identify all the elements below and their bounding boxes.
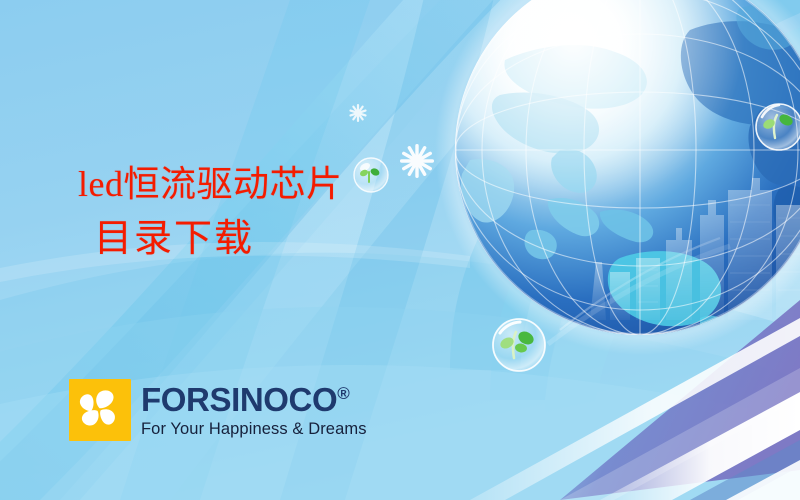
logo-company-name: FORSINOCO®: [141, 383, 367, 416]
logo-name-text: FORSINOCO: [141, 381, 337, 418]
promotional-banner-slide: led恒流驱动芯片 目录下载 FORSINOCO® For Your Happi…: [0, 0, 800, 500]
sparkle-small: [349, 104, 367, 122]
city-skyline-silhouette: [548, 178, 800, 344]
pinwheel-flower-icon: [69, 379, 131, 441]
company-logo[interactable]: FORSINOCO® For Your Happiness & Dreams: [69, 379, 367, 441]
headline-line-2: 目录下载: [94, 217, 498, 262]
headline-text: led恒流驱动芯片 目录下载: [78, 163, 498, 262]
logo-wordmark: FORSINOCO® For Your Happiness & Dreams: [141, 379, 367, 438]
globe-continents: [461, 5, 800, 342]
bubble-right-edge: [756, 104, 800, 150]
headline-line-1: led恒流驱动芯片: [78, 163, 498, 205]
globe-grid-lines: [455, 0, 800, 335]
logo-tagline: For Your Happiness & Dreams: [141, 421, 367, 438]
bubble-large-bottom: [493, 319, 545, 371]
lower-wave-bands: [0, 242, 800, 500]
corner-accent: [470, 300, 800, 500]
registered-trademark-icon: ®: [337, 384, 350, 403]
